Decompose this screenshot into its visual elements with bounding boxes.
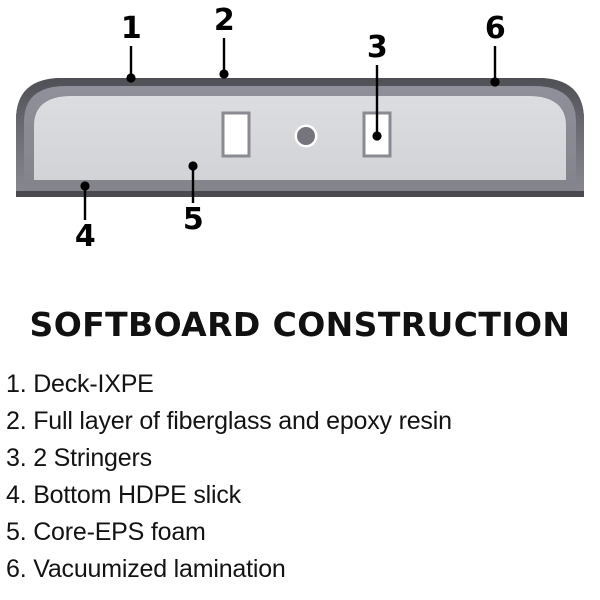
legend-section: SOFTBOARD CONSTRUCTION 1. Deck-IXPE 2. F… [0, 290, 600, 588]
construction-legend-list: 1. Deck-IXPE 2. Full layer of fiberglass… [0, 344, 600, 588]
board-bottom-slick [16, 191, 584, 197]
list-item: 5. Core-EPS foam [6, 514, 600, 551]
softboard-diagram: 1 2 3 6 4 5 [0, 0, 600, 290]
callout-number-3: 3 [367, 33, 387, 63]
callout-number-2: 2 [214, 6, 234, 36]
callout-number-6: 6 [485, 14, 505, 44]
list-item: 2. Full layer of fiberglass and epoxy re… [6, 403, 600, 440]
list-item: 3. 2 Stringers [6, 440, 600, 477]
callout-number-4: 4 [75, 222, 95, 252]
list-item: 4. Bottom HDPE slick [6, 477, 600, 514]
list-item: 6. Vacuumized lamination [6, 551, 600, 588]
callout-number-5: 5 [183, 205, 203, 235]
list-item: 1. Deck-IXPE [6, 366, 600, 403]
stringer-left [223, 113, 249, 156]
vent-plug-icon [297, 127, 315, 145]
callout-number-1: 1 [121, 14, 141, 44]
page-title: SOFTBOARD CONSTRUCTION [0, 290, 600, 344]
